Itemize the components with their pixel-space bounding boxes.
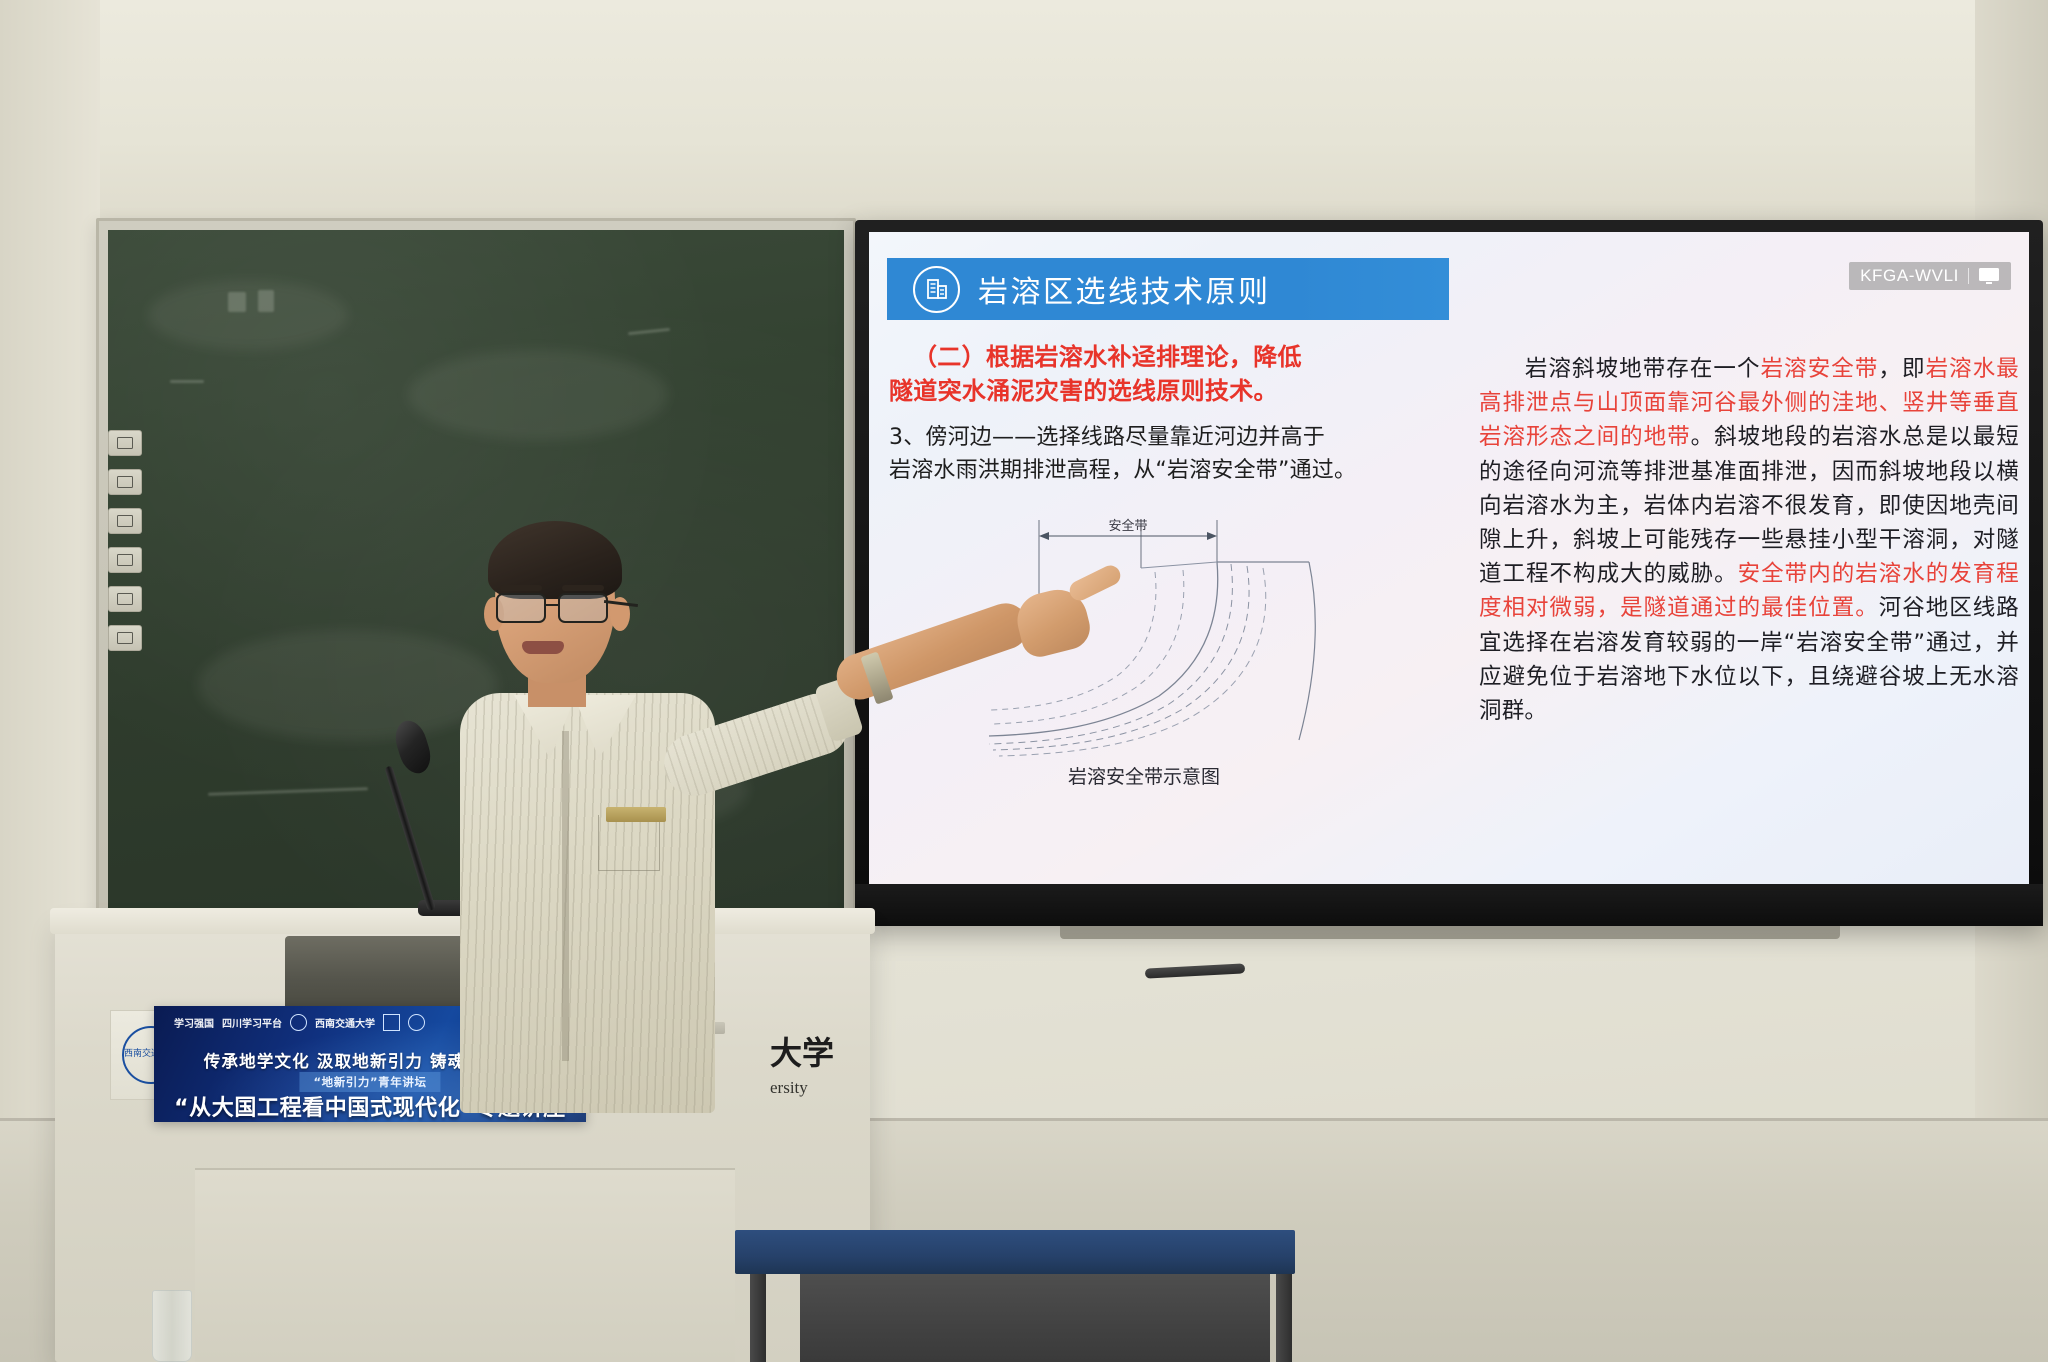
presenter-name-badge <box>606 807 666 822</box>
drinking-glass <box>152 1290 192 1362</box>
display-watermark: KFGA-WVLI <box>1849 262 2011 290</box>
table-leg-right <box>1276 1274 1292 1362</box>
board-button[interactable] <box>108 625 142 651</box>
screen-icon <box>117 476 133 488</box>
screen-icon <box>117 437 133 449</box>
lecture-hall-scene: KFGA-WVLI <box>0 0 2048 1362</box>
board-button[interactable] <box>108 469 142 495</box>
screen-icon <box>117 515 133 527</box>
banner-forum-name: “地新引力”青年讲坛 <box>299 1072 440 1092</box>
black-para-line-1: 3、傍河边——选择线路尽量靠近河边并高于 <box>889 422 1451 455</box>
black-para-line-2: 岩溶水雨洪期排泄高程，从“岩溶安全带”通过。 <box>889 455 1451 488</box>
table-body <box>800 1274 1270 1362</box>
presenter-shirt-placket <box>562 731 569 1061</box>
monitor-icon <box>1978 267 2000 285</box>
table-surface <box>735 1230 1295 1274</box>
eyeglass-lens-right <box>558 593 608 623</box>
seg-2: ，即 <box>1878 356 1925 382</box>
banner-logo-university: 西南交通大学 <box>315 1015 375 1030</box>
slide-red-heading: （二）根据岩溶水补迳排理论，降低 隧道突水涌泥灾害的选线原则技术。 <box>889 340 1449 408</box>
board-control-strip[interactable] <box>108 430 142 651</box>
seg-0: 岩溶斜坡地带存在一个 <box>1524 356 1761 382</box>
banner-logo-row: 学习强国 四川学习平台 西南交通大学 <box>174 1014 425 1031</box>
table-leg-left <box>750 1274 766 1362</box>
eyeglass-lens-left <box>496 593 546 623</box>
seg-1: 岩溶安全带 <box>1761 356 1879 382</box>
banner-logo-circle-arrow <box>408 1014 425 1031</box>
screen-icon <box>117 632 133 644</box>
presenter <box>470 515 1170 1115</box>
board-button[interactable] <box>108 508 142 534</box>
red-heading-line-1: （二）根据岩溶水补迳排理论，降低 <box>889 340 1449 374</box>
banner-logo-xuexiqiangguo: 学习强国 <box>174 1015 214 1030</box>
presenter-forearm <box>831 597 1035 706</box>
screen-stand <box>1060 926 1840 939</box>
eyeglass-bridge <box>546 604 560 606</box>
slide-title: 岩溶区选线技术原则 <box>978 267 1271 311</box>
banner-logo-geoscience-mark <box>383 1014 400 1031</box>
wall-upper-band <box>0 0 2048 232</box>
eyeglasses <box>494 593 618 627</box>
lectern-lower-body <box>195 1168 735 1362</box>
building-icon <box>913 266 960 313</box>
screen-icon <box>117 593 133 605</box>
slide-header-band: 岩溶区选线技术原则 <box>887 258 1449 320</box>
banner-logo-platform: 四川学习平台 <box>222 1015 282 1030</box>
slide-right-paragraph: 岩溶斜坡地带存在一个岩溶安全带，即岩溶水最高排泄点与山顶面靠河谷最外侧的洼地、竖… <box>1479 352 2019 728</box>
presenter-pointing-finger <box>1066 562 1123 604</box>
presenter-mouth <box>522 641 564 654</box>
presenter-shirt-pocket <box>598 815 660 871</box>
red-heading-line-2: 隧道突水涌泥灾害的选线原则技术。 <box>889 374 1449 408</box>
slide-black-paragraph: 3、傍河边——选择线路尽量靠近河边并高于 岩溶水雨洪期排泄高程，从“岩溶安全带”… <box>889 422 1451 487</box>
board-button[interactable] <box>108 430 142 456</box>
presenter-brow-right <box>562 585 604 591</box>
presenter-brow-left <box>500 585 542 591</box>
watermark-divider <box>1968 268 1969 284</box>
banner-logo-university-mark <box>290 1014 307 1031</box>
board-button[interactable] <box>108 586 142 612</box>
board-button[interactable] <box>108 547 142 573</box>
screen-icon <box>117 554 133 566</box>
watermark-code: KFGA-WVLI <box>1860 266 1959 286</box>
